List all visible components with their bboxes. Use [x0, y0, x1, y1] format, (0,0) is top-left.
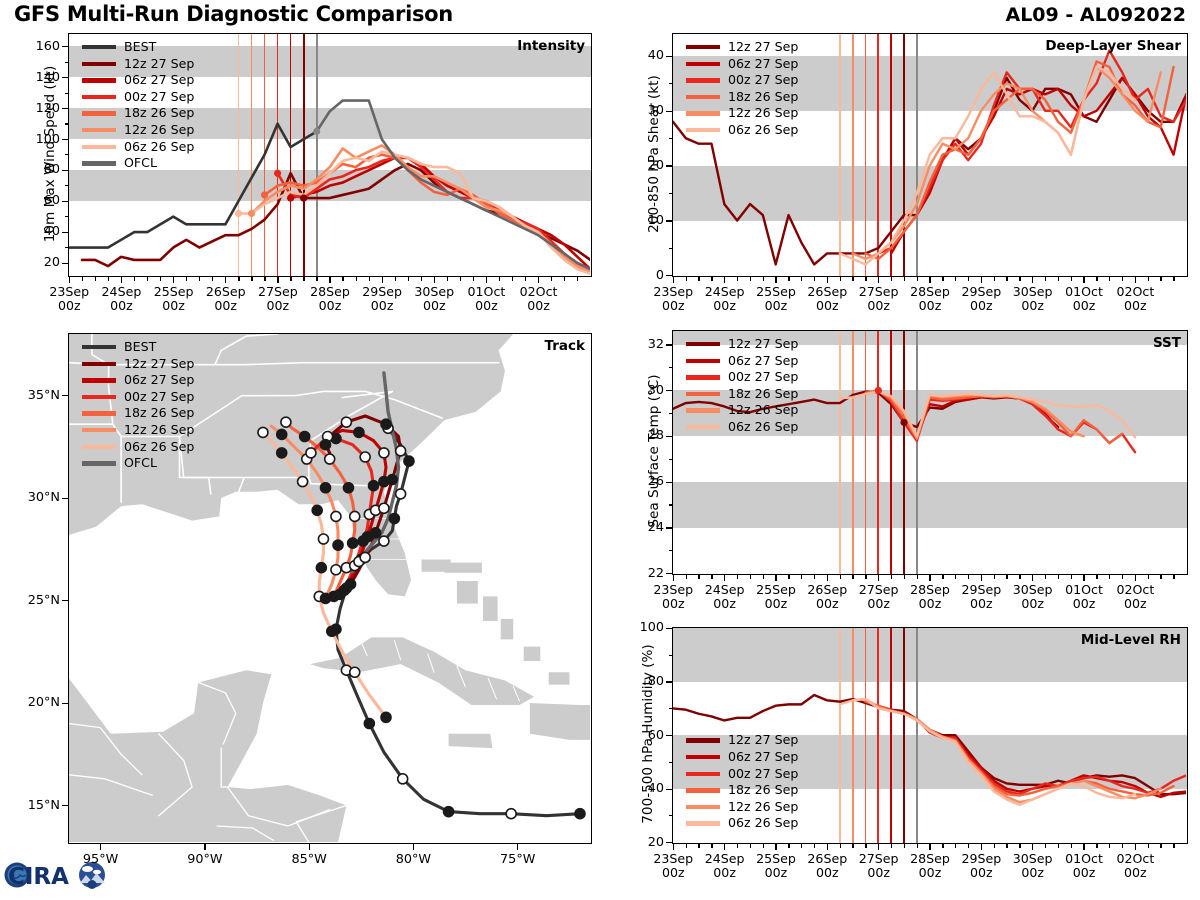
legend-swatch [686, 408, 720, 412]
x-tick-minor [1173, 844, 1174, 848]
x-tick-minor [82, 277, 83, 281]
y-tick-label: 120 [16, 101, 60, 116]
track-marker [346, 579, 356, 589]
y-tick-mark [666, 436, 672, 437]
legend-swatch [686, 62, 720, 66]
x-tick-minor [852, 844, 853, 848]
legend-label: 06z 26 Sep [124, 441, 194, 454]
y-tick-mark [669, 550, 673, 551]
y-tick-label: 20 [620, 158, 664, 173]
x-tick-label: 02Oct00z [1095, 852, 1175, 880]
x-tick-minor [917, 844, 918, 848]
x-tick-minor [686, 277, 687, 281]
track-marker [368, 481, 378, 491]
legend-label: 00z 27 Sep [728, 74, 798, 87]
x-tick-minor [1019, 277, 1020, 281]
x-tick-minor [1058, 277, 1059, 281]
map-landmass-bahamas-5 [524, 647, 541, 661]
y-tick-label: 80 [16, 162, 60, 177]
legend-label: 00z 27 Sep [728, 768, 798, 781]
x-tick-minor [968, 575, 969, 579]
legend-swatch [82, 445, 116, 449]
y-tick-mark [666, 165, 672, 166]
legend-item-best: BEST [82, 339, 194, 356]
legend-label: BEST [124, 41, 156, 54]
legend-item-06z-27-sep: 06z 27 Sep [686, 749, 798, 766]
x-tick-minor [763, 844, 764, 848]
y-tick-mark [666, 56, 672, 57]
x-tick-date: 02Oct [1116, 284, 1154, 299]
legend-swatch [82, 45, 116, 49]
x-tick-mark [538, 277, 539, 283]
x-tick-minor [711, 277, 712, 281]
x-tick-minor [356, 277, 357, 281]
track-marker [381, 419, 391, 429]
legend-sst: 12z 27 Sep06z 27 Sep00z 27 Sep18z 26 Sep… [686, 336, 798, 436]
x-tick-minor [1148, 277, 1149, 281]
legend-swatch [82, 128, 116, 132]
legend-label: 06z 27 Sep [728, 751, 798, 764]
track-marker [341, 417, 351, 427]
x-tick-mark [724, 844, 725, 850]
x-tick-minor [814, 575, 815, 579]
y-tick-label: 0 [620, 268, 664, 283]
track-marker [321, 483, 331, 493]
y-tick-mark [62, 46, 68, 47]
x-tick-mark [1135, 575, 1136, 581]
x-tick-minor [840, 277, 841, 281]
y-tick-label: 140 [16, 70, 60, 85]
y-tick-label: 40 [16, 224, 60, 239]
x-tick-hour: 00z [423, 298, 446, 313]
legend-item-06z-26-sep: 06z 26 Sep [686, 122, 798, 139]
init-marker [274, 170, 281, 177]
x-tick-minor [942, 277, 943, 281]
x-tick-minor [865, 575, 866, 579]
y-tick-mark [666, 220, 672, 221]
x-tick-hour: 00z [765, 865, 788, 880]
x-tick-hour: 00z [867, 596, 890, 611]
legend-label: OFCL [124, 157, 157, 170]
x-tick-minor [891, 844, 892, 848]
shear-ylabel: 200-850 hPa Shear (kt) [646, 34, 662, 274]
y-tick-label: 60 [620, 728, 664, 743]
track-marker [343, 483, 353, 493]
legend-item-18z-26-sep: 18z 26 Sep [82, 105, 194, 122]
x-tick-hour: 00z [713, 298, 736, 313]
sst-ylabel: Sea Surface Temp (°C) [646, 331, 662, 571]
x-tick-hour: 00z [1073, 298, 1096, 313]
y-tick-mark [62, 170, 68, 171]
legend-item-00z-27-sep: 00z 27 Sep [686, 72, 798, 89]
lon-tick-label: 90°W [165, 852, 245, 867]
init-marker [875, 387, 882, 394]
storm-id-label: AL09 - AL092022 [1006, 4, 1187, 26]
track-marker [281, 417, 291, 427]
x-tick-minor [577, 277, 578, 281]
x-tick-minor [160, 277, 161, 281]
x-tick-minor [238, 277, 239, 281]
x-tick-minor [473, 277, 474, 281]
y-tick-label: 30 [620, 103, 664, 118]
x-tick-minor [303, 277, 304, 281]
x-tick-mark [775, 277, 776, 283]
y-tick-mark [65, 154, 69, 155]
x-tick-minor [955, 277, 956, 281]
x-tick-minor [955, 575, 956, 579]
x-tick-minor [264, 277, 265, 281]
lat-tick-label: 20°N [6, 695, 60, 710]
x-tick-minor [788, 844, 789, 848]
y-tick-mark [669, 83, 673, 84]
x-tick-hour: 00z [816, 596, 839, 611]
lon-tick-mark [100, 844, 101, 850]
y-tick-label: 20 [620, 835, 664, 850]
legend-swatch [686, 128, 720, 132]
track-marker [379, 503, 389, 513]
lat-tick-mark [62, 600, 68, 601]
x-tick-minor [1058, 575, 1059, 579]
legend-label: 06z 27 Sep [124, 74, 194, 87]
x-tick-minor [737, 277, 738, 281]
legend-label: 00z 27 Sep [728, 371, 798, 384]
series-line [238, 152, 590, 274]
y-tick-mark [669, 413, 673, 414]
y-tick-label: 60 [16, 193, 60, 208]
lon-tick-label: 95°W [61, 852, 141, 867]
legend-item-12z-27-sep: 12z 27 Sep [82, 56, 194, 73]
x-tick-minor [564, 277, 565, 281]
map-landmass-bahamas-3 [483, 596, 498, 621]
legend-swatch [82, 95, 116, 99]
x-tick-hour: 00z [267, 298, 290, 313]
x-tick-mark [929, 575, 930, 581]
x-tick-label: 02Oct00z [1095, 285, 1175, 313]
legend-label: 12z 26 Sep [124, 124, 194, 137]
x-tick-minor [904, 277, 905, 281]
y-tick-label: 160 [16, 39, 60, 54]
y-tick-mark [62, 201, 68, 202]
x-tick-minor [968, 277, 969, 281]
x-tick-minor [750, 844, 751, 848]
x-tick-minor [1045, 844, 1046, 848]
x-tick-hour: 00z [1021, 865, 1044, 880]
x-tick-minor [251, 277, 252, 281]
y-tick-mark [666, 842, 672, 843]
x-tick-minor [1173, 277, 1174, 281]
x-tick-mark [329, 277, 330, 283]
init-marker [300, 194, 307, 201]
x-tick-mark [277, 277, 278, 283]
x-tick-hour: 00z [662, 865, 685, 880]
legend-label: 06z 26 Sep [124, 141, 194, 154]
x-tick-mark [673, 575, 674, 581]
x-tick-hour: 00z [319, 298, 342, 313]
y-tick-mark [62, 139, 68, 140]
legend-swatch [82, 411, 116, 415]
legend-label: 12z 26 Sep [728, 404, 798, 417]
x-tick-mark [878, 844, 879, 850]
x-tick-minor [316, 277, 317, 281]
x-tick-hour: 00z [662, 298, 685, 313]
y-tick-mark [65, 93, 69, 94]
x-tick-mark [1083, 844, 1084, 850]
y-tick-mark [666, 628, 672, 629]
track-marker [331, 511, 341, 521]
x-tick-minor [763, 575, 764, 579]
track-marker [325, 454, 335, 464]
legend-item-12z-26-sep: 12z 26 Sep [686, 799, 798, 816]
x-tick-minor [917, 277, 918, 281]
legend-shear: 12z 27 Sep06z 27 Sep00z 27 Sep18z 26 Sep… [686, 39, 798, 139]
legend-track: BEST12z 27 Sep06z 27 Sep00z 27 Sep18z 26… [82, 339, 194, 472]
x-tick-minor [763, 277, 764, 281]
x-tick-minor [852, 575, 853, 579]
legend-swatch [82, 62, 116, 66]
x-tick-mark [827, 575, 828, 581]
y-tick-mark [62, 232, 68, 233]
x-tick-minor [840, 844, 841, 848]
x-tick-hour: 00z [919, 298, 942, 313]
y-tick-mark [65, 123, 69, 124]
legend-label: 12z 26 Sep [728, 801, 798, 814]
lon-tick-mark [204, 844, 205, 850]
track-title: Track [545, 338, 585, 354]
y-tick-mark [62, 77, 68, 78]
legend-swatch [686, 45, 720, 49]
x-tick-hour: 00z [1124, 298, 1147, 313]
legend-swatch [82, 111, 116, 115]
x-tick-minor [95, 277, 96, 281]
y-tick-mark [669, 138, 673, 139]
legend-label: 06z 26 Sep [728, 421, 798, 434]
legend-item-18z-26-sep: 18z 26 Sep [686, 782, 798, 799]
x-tick-mark [775, 844, 776, 850]
legend-swatch [686, 111, 720, 115]
legend-item-12z-26-sep: 12z 26 Sep [82, 422, 194, 439]
x-tick-hour: 00z [919, 596, 942, 611]
x-tick-mark [1083, 277, 1084, 283]
track-marker [398, 774, 408, 784]
svg-text:CIRA: CIRA [8, 864, 69, 890]
legend-swatch [82, 145, 116, 149]
legend-item-06z-26-sep: 06z 26 Sep [82, 439, 194, 456]
x-tick-minor [1006, 277, 1007, 281]
y-tick-mark [669, 815, 673, 816]
x-tick-minor [1148, 575, 1149, 579]
track-marker [396, 446, 406, 456]
legend-swatch [686, 95, 720, 99]
x-tick-minor [512, 277, 513, 281]
legend-label: 12z 27 Sep [124, 358, 194, 371]
map-landmass-bahamas-2 [457, 581, 478, 604]
lon-tick-label: 85°W [269, 852, 349, 867]
x-tick-minor [865, 277, 866, 281]
legend-item-00z-27-sep: 00z 27 Sep [686, 369, 798, 386]
track-marker [575, 809, 585, 819]
x-tick-minor [891, 575, 892, 579]
legend-label: 00z 27 Sep [124, 391, 194, 404]
x-tick-date: 02Oct [520, 284, 558, 299]
legend-item-12z-27-sep: 12z 27 Sep [82, 356, 194, 373]
x-tick-hour: 00z [527, 298, 550, 313]
x-tick-hour: 00z [970, 596, 993, 611]
legend-item-06z-26-sep: 06z 26 Sep [82, 139, 194, 156]
track-marker [354, 427, 364, 437]
x-tick-date: 02Oct [1116, 851, 1154, 866]
x-tick-mark [173, 277, 174, 283]
track-marker [327, 626, 337, 636]
x-tick-mark [878, 575, 879, 581]
lon-tick-mark [517, 844, 518, 850]
x-tick-minor [1096, 277, 1097, 281]
x-tick-mark [673, 277, 674, 283]
x-tick-hour: 00z [214, 298, 237, 313]
x-tick-mark [1135, 277, 1136, 283]
x-tick-hour: 00z [867, 865, 890, 880]
legend-rh: 12z 27 Sep06z 27 Sep00z 27 Sep18z 26 Sep… [686, 732, 798, 832]
init-marker [248, 210, 255, 217]
x-tick-minor [801, 575, 802, 579]
x-tick-minor [460, 277, 461, 281]
x-tick-minor [1045, 575, 1046, 579]
track-marker [389, 514, 399, 524]
x-tick-hour: 00z [867, 298, 890, 313]
shear-title: Deep-Layer Shear [1045, 38, 1181, 54]
x-tick-mark [1032, 277, 1033, 283]
y-tick-mark [666, 482, 672, 483]
x-tick-hour: 00z [662, 596, 685, 611]
x-tick-minor [737, 844, 738, 848]
legend-label: 18z 26 Sep [728, 784, 798, 797]
x-tick-hour: 00z [919, 865, 942, 880]
x-tick-mark [981, 575, 982, 581]
track-marker [316, 563, 326, 573]
legend-item-best: BEST [82, 39, 194, 56]
y-tick-mark [669, 367, 673, 368]
x-tick-mark [1032, 844, 1033, 850]
legend-label: 18z 26 Sep [124, 407, 194, 420]
legend-item-12z-27-sep: 12z 27 Sep [686, 39, 798, 56]
x-tick-minor [1109, 277, 1110, 281]
x-tick-minor [1006, 844, 1007, 848]
legend-swatch [686, 805, 720, 809]
y-tick-mark [669, 193, 673, 194]
legend-item-ofcl: OFCL [82, 455, 194, 472]
x-tick-hour: 00z [1124, 865, 1147, 880]
lat-tick-label: 25°N [6, 593, 60, 608]
x-tick-minor [686, 575, 687, 579]
legend-swatch [82, 362, 116, 366]
x-tick-hour: 00z [713, 865, 736, 880]
y-tick-mark [666, 681, 672, 682]
x-tick-hour: 00z [1021, 298, 1044, 313]
legend-label: BEST [124, 341, 156, 354]
legend-item-00z-27-sep: 00z 27 Sep [82, 89, 194, 106]
legend-swatch [82, 161, 116, 165]
x-tick-minor [134, 277, 135, 281]
y-tick-label: 32 [620, 337, 664, 352]
track-marker [396, 489, 406, 499]
track-marker [312, 505, 322, 515]
legend-item-06z-26-sep: 06z 26 Sep [686, 815, 798, 832]
lon-tick-mark [309, 844, 310, 850]
x-tick-minor [737, 575, 738, 579]
x-tick-mark [121, 277, 122, 283]
legend-item-12z-26-sep: 12z 26 Sep [686, 402, 798, 419]
legend-item-18z-26-sep: 18z 26 Sep [686, 89, 798, 106]
track-marker [444, 807, 454, 817]
x-tick-hour: 00z [1124, 596, 1147, 611]
y-tick-mark [666, 573, 672, 574]
x-tick-minor [994, 844, 995, 848]
x-tick-minor [1122, 277, 1123, 281]
x-tick-mark [724, 277, 725, 283]
x-tick-mark [1135, 844, 1136, 850]
legend-swatch [82, 428, 116, 432]
x-tick-minor [814, 844, 815, 848]
y-tick-mark [666, 735, 672, 736]
series-line [278, 158, 591, 269]
x-tick-minor [968, 844, 969, 848]
lat-tick-mark [62, 703, 68, 704]
x-tick-minor [212, 277, 213, 281]
x-tick-hour: 00z [162, 298, 185, 313]
x-tick-minor [186, 277, 187, 281]
x-tick-minor [1160, 277, 1161, 281]
page-title: GFS Multi-Run Diagnostic Comparison [14, 2, 453, 26]
series-line [840, 699, 1135, 805]
legend-item-06z-27-sep: 06z 27 Sep [82, 372, 194, 389]
lon-tick-label: 80°W [373, 852, 453, 867]
y-tick-label: 22 [620, 566, 664, 581]
x-tick-minor [840, 575, 841, 579]
x-tick-minor [904, 575, 905, 579]
y-tick-mark [65, 216, 69, 217]
x-tick-minor [801, 277, 802, 281]
y-tick-label: 26 [620, 474, 664, 489]
x-tick-minor [147, 277, 148, 281]
x-tick-minor [447, 277, 448, 281]
x-tick-minor [942, 844, 943, 848]
track-marker [364, 719, 374, 729]
legend-item-00z-27-sep: 00z 27 Sep [686, 766, 798, 783]
legend-label: 06z 26 Sep [728, 124, 798, 137]
x-tick-minor [1096, 844, 1097, 848]
y-tick-label: 100 [16, 132, 60, 147]
legend-item-18z-26-sep: 18z 26 Sep [82, 405, 194, 422]
track-marker [360, 552, 370, 562]
track-marker [277, 448, 287, 458]
y-tick-label: 80 [620, 674, 664, 689]
y-tick-mark [666, 344, 672, 345]
legend-swatch [686, 342, 720, 346]
x-tick-minor [917, 575, 918, 579]
legend-label: 06z 27 Sep [124, 374, 194, 387]
legend-label: 12z 27 Sep [728, 338, 798, 351]
lat-tick-label: 30°N [6, 490, 60, 505]
y-tick-label: 40 [620, 781, 664, 796]
legend-label: 06z 26 Sep [728, 817, 798, 830]
track-marker [318, 534, 328, 544]
legend-item-06z-27-sep: 06z 27 Sep [82, 72, 194, 89]
legend-swatch [686, 359, 720, 363]
x-tick-minor [942, 575, 943, 579]
track-marker [331, 565, 341, 575]
x-tick-minor [1071, 844, 1072, 848]
legend-label: 12z 26 Sep [728, 107, 798, 120]
lat-tick-mark [62, 395, 68, 396]
